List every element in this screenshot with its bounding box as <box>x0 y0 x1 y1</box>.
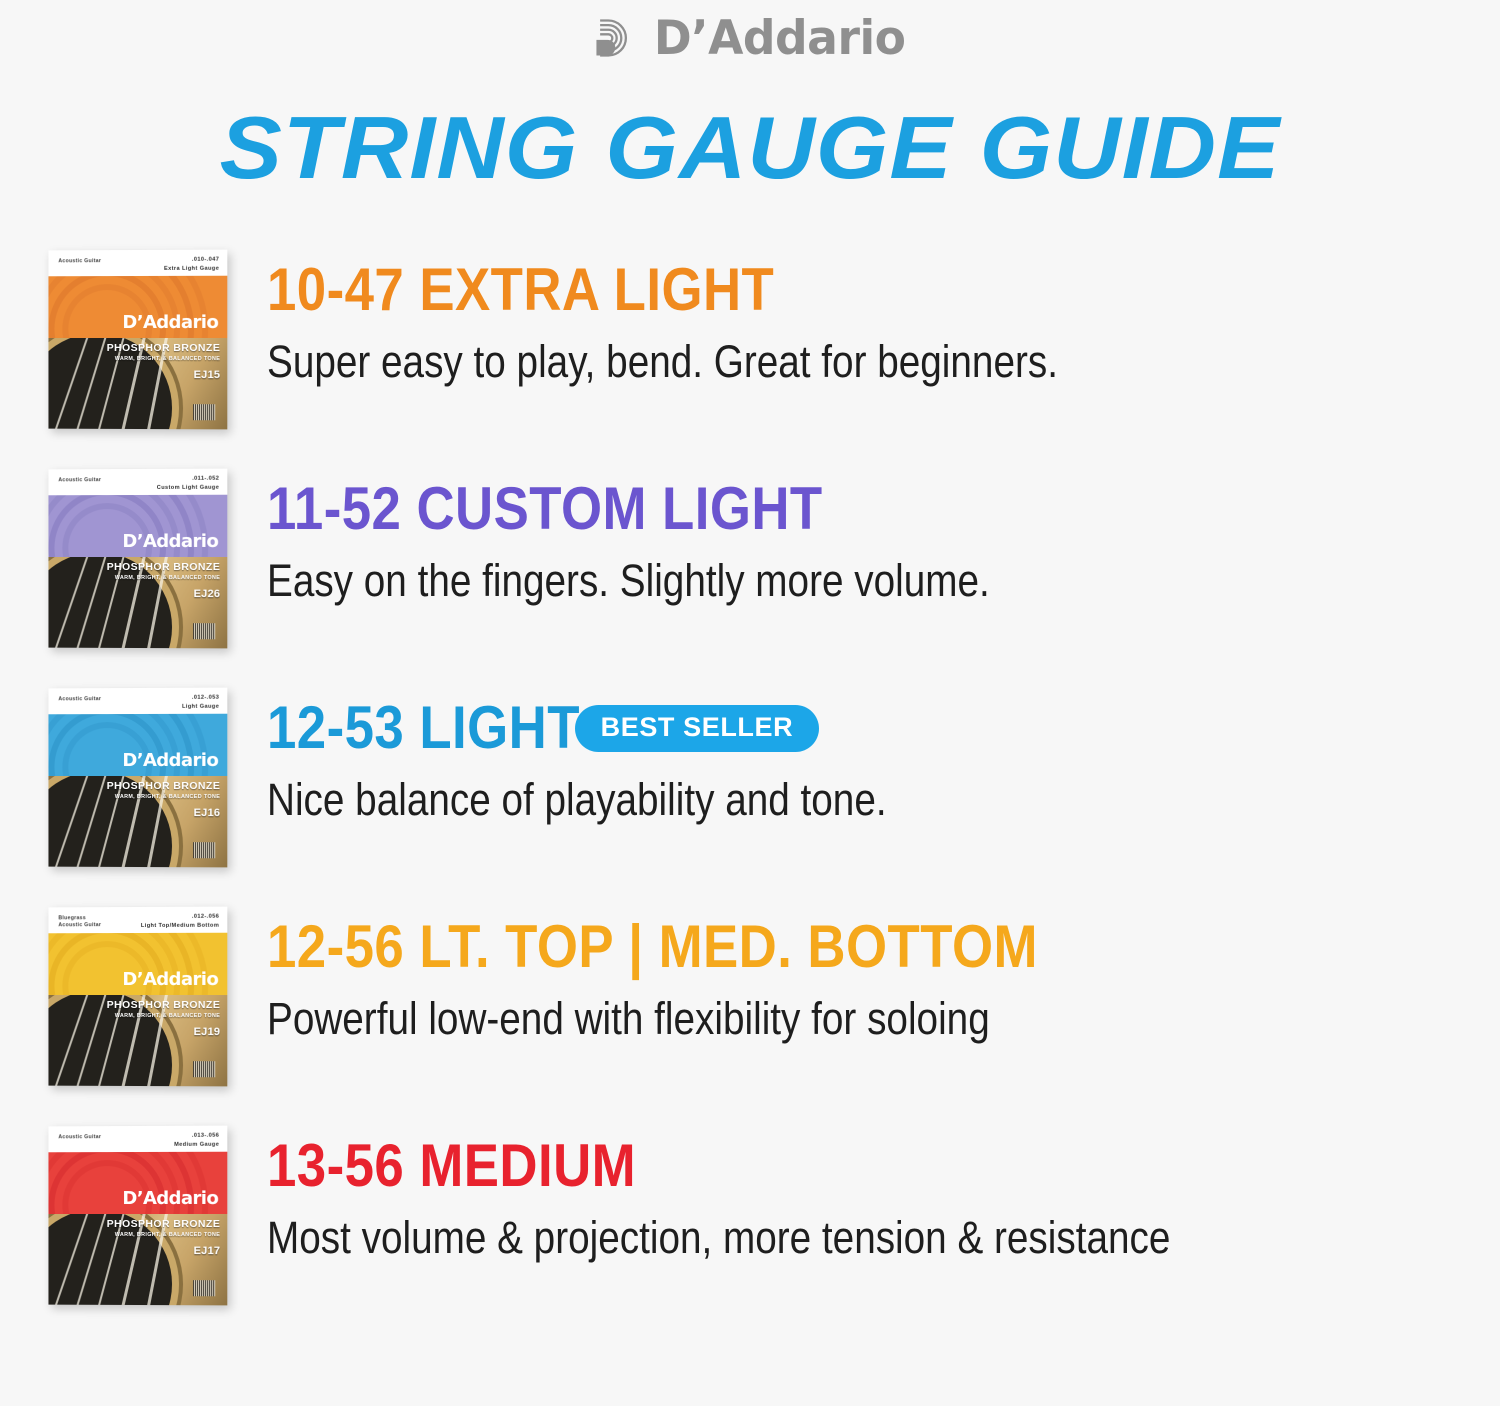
gauge-title: 11-52 CUSTOM LIGHT <box>267 479 823 539</box>
package-model: EJ15 <box>107 369 221 381</box>
package-color-band: D’Addario <box>48 714 227 776</box>
package-gauge-name: Custom Light Gauge <box>157 484 219 493</box>
package-color-band: D’Addario <box>48 495 227 557</box>
page-title: STRING GAUGE GUIDE <box>0 104 1500 192</box>
package-tone: WARM, BRIGHT, & BALANCED TONE <box>107 575 221 581</box>
package-gauge-range: .010-.047 <box>164 256 219 265</box>
package-gauge-name: Light Top/Medium Bottom <box>141 922 219 931</box>
gauge-info: 12-53 LIGHTBEST SELLERNice balance of pl… <box>238 682 1500 826</box>
barcode-icon <box>193 842 215 858</box>
package-header: BluegrassAcoustic Guitar.012-.056Light T… <box>48 907 227 934</box>
package-brand-logo: D’Addario <box>122 969 218 990</box>
package-gauge-info: .012-.053Light Gauge <box>182 694 219 712</box>
package-tone: WARM, BRIGHT, & BALANCED TONE <box>107 1013 221 1019</box>
barcode-icon <box>193 404 215 420</box>
gauge-title: 10-47 EXTRA LIGHT <box>267 260 774 320</box>
package-gauge-info: .013-.056Medium Gauge <box>174 1132 219 1150</box>
package-model: EJ17 <box>107 1245 221 1257</box>
package-model: EJ16 <box>107 807 221 819</box>
gauge-heading-line: 12-56 LT. TOP | MED. BOTTOM <box>267 917 1500 977</box>
package-gauge-range: .011-.052 <box>157 475 219 484</box>
package-spec-text: PHOSPHOR BRONZEWARM, BRIGHT, & BALANCED … <box>107 561 221 600</box>
package-gauge-info: .010-.047Extra Light Gauge <box>164 256 219 274</box>
package-image[interactable]: Acoustic Guitar.010-.047Extra Light Gaug… <box>48 244 238 429</box>
gauge-row: Acoustic Guitar.010-.047Extra Light Gaug… <box>48 244 1500 463</box>
gauge-title: 13-56 MEDIUM <box>267 1136 636 1196</box>
package-gauge-info: .011-.052Custom Light Gauge <box>157 475 219 493</box>
package-gauge-range: .012-.053 <box>182 694 219 703</box>
package-gauge-info: .012-.056Light Top/Medium Bottom <box>141 913 219 931</box>
package-spec-text: PHOSPHOR BRONZEWARM, BRIGHT, & BALANCED … <box>107 999 221 1038</box>
package-header: Acoustic Guitar.011-.052Custom Light Gau… <box>48 469 227 496</box>
package-gauge-range: .012-.056 <box>141 913 219 922</box>
package-material: PHOSPHOR BRONZE <box>107 780 221 792</box>
package-brand-logo: D’Addario <box>122 1188 218 1209</box>
package-material: PHOSPHOR BRONZE <box>107 342 221 354</box>
package-instrument: Acoustic Guitar <box>58 477 101 484</box>
package-material: PHOSPHOR BRONZE <box>107 561 221 573</box>
brand-wordmark: D’Addario <box>654 15 906 62</box>
gauge-title: 12-56 LT. TOP | MED. BOTTOM <box>267 917 1038 977</box>
barcode-icon <box>193 623 215 639</box>
gauge-heading-line: 12-53 LIGHTBEST SELLER <box>267 698 1500 758</box>
package-image[interactable]: Acoustic Guitar.012-.053Light GaugeD’Add… <box>48 682 238 867</box>
package-tone: WARM, BRIGHT, & BALANCED TONE <box>107 356 221 362</box>
gauge-title: 12-53 LIGHT <box>267 698 580 758</box>
gauge-info: 10-47 EXTRA LIGHTSuper easy to play, ben… <box>238 244 1500 388</box>
barcode-icon <box>193 1280 215 1296</box>
gauge-list: Acoustic Guitar.010-.047Extra Light Gaug… <box>0 244 1500 1339</box>
package-header: Acoustic Guitar.010-.047Extra Light Gaug… <box>48 250 227 277</box>
package-gauge-name: Extra Light Gauge <box>164 265 219 274</box>
package-material: PHOSPHOR BRONZE <box>107 1218 221 1230</box>
package-spec-text: PHOSPHOR BRONZEWARM, BRIGHT, & BALANCED … <box>107 780 221 819</box>
gauge-info: 12-56 LT. TOP | MED. BOTTOMPowerful low-… <box>238 901 1500 1045</box>
package-gauge-range: .013-.056 <box>174 1132 219 1141</box>
gauge-description: Powerful low-end with flexibility for so… <box>267 993 1327 1045</box>
package-gauge-name: Medium Gauge <box>174 1141 219 1150</box>
gauge-description: Super easy to play, bend. Great for begi… <box>267 336 1327 388</box>
gauge-row: BluegrassAcoustic Guitar.012-.056Light T… <box>48 901 1500 1120</box>
package-instrument: Acoustic Guitar <box>58 1134 101 1141</box>
package-spec-text: PHOSPHOR BRONZEWARM, BRIGHT, & BALANCED … <box>107 342 221 381</box>
package-tone: WARM, BRIGHT, & BALANCED TONE <box>107 1232 221 1238</box>
package-brand-logo: D’Addario <box>122 312 218 333</box>
gauge-info: 13-56 MEDIUMMost volume & projection, mo… <box>238 1120 1500 1264</box>
barcode-icon <box>193 1061 215 1077</box>
gauge-heading-line: 11-52 CUSTOM LIGHT <box>267 479 1500 539</box>
package-image[interactable]: Acoustic Guitar.011-.052Custom Light Gau… <box>48 463 238 648</box>
package-spec-text: PHOSPHOR BRONZEWARM, BRIGHT, & BALANCED … <box>107 1218 221 1257</box>
package-header: Acoustic Guitar.012-.053Light Gauge <box>48 688 227 715</box>
package-color-band: D’Addario <box>48 276 227 338</box>
package-image[interactable]: BluegrassAcoustic Guitar.012-.056Light T… <box>48 901 238 1086</box>
package-material: PHOSPHOR BRONZE <box>107 999 221 1011</box>
gauge-description: Most volume & projection, more tension &… <box>267 1212 1327 1264</box>
gauge-info: 11-52 CUSTOM LIGHTEasy on the fingers. S… <box>238 463 1500 607</box>
package-model: EJ26 <box>107 588 221 600</box>
brand-header: D’Addario <box>0 0 1500 76</box>
gauge-row: Acoustic Guitar.013-.056Medium GaugeD’Ad… <box>48 1120 1500 1339</box>
package-brand-logo: D’Addario <box>122 531 218 552</box>
package-instrument: Acoustic Guitar <box>58 696 101 703</box>
package-gauge-name: Light Gauge <box>182 703 219 712</box>
gauge-row: Acoustic Guitar.011-.052Custom Light Gau… <box>48 463 1500 682</box>
package-model: EJ19 <box>107 1026 221 1038</box>
gauge-description: Nice balance of playability and tone. <box>267 774 1327 826</box>
package-instrument: Acoustic Guitar <box>58 258 101 265</box>
package-instrument: BluegrassAcoustic Guitar <box>58 915 101 929</box>
daddario-logo-icon <box>590 15 636 61</box>
best-seller-badge: BEST SELLER <box>575 705 820 752</box>
package-brand-logo: D’Addario <box>122 750 218 771</box>
gauge-heading-line: 10-47 EXTRA LIGHT <box>267 260 1500 320</box>
gauge-description: Easy on the fingers. Slightly more volum… <box>267 555 1327 607</box>
package-color-band: D’Addario <box>48 1152 227 1214</box>
package-tone: WARM, BRIGHT, & BALANCED TONE <box>107 794 221 800</box>
gauge-row: Acoustic Guitar.012-.053Light GaugeD’Add… <box>48 682 1500 901</box>
gauge-heading-line: 13-56 MEDIUM <box>267 1136 1500 1196</box>
package-image[interactable]: Acoustic Guitar.013-.056Medium GaugeD’Ad… <box>48 1120 238 1305</box>
package-color-band: D’Addario <box>48 933 227 995</box>
package-header: Acoustic Guitar.013-.056Medium Gauge <box>48 1126 227 1153</box>
